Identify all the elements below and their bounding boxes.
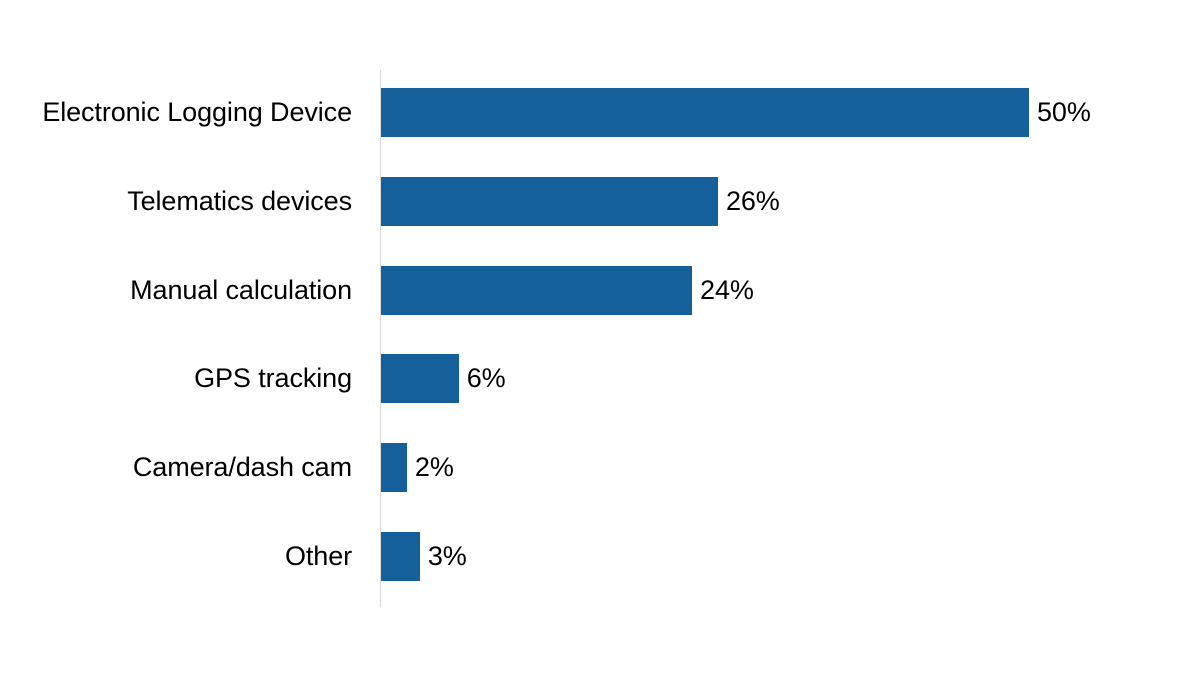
plot-area: Electronic Logging Device 50% Telematics… [0, 0, 1200, 675]
category-label: Electronic Logging Device [42, 88, 352, 137]
category-axis-line [380, 70, 381, 607]
bar-fill[interactable] [381, 443, 407, 492]
bar-fill[interactable] [381, 266, 692, 315]
category-label: GPS tracking [194, 354, 352, 403]
bar-fill[interactable] [381, 532, 420, 581]
bar-value-label: 6% [467, 354, 506, 403]
bar-value-label: 2% [415, 443, 454, 492]
bar-value-label: 50% [1037, 88, 1091, 137]
bar-row[interactable]: Other 3% [0, 532, 1200, 581]
category-label: Manual calculation [130, 266, 352, 315]
bar-fill[interactable] [381, 88, 1029, 137]
bar-fill[interactable] [381, 354, 459, 403]
bar-fill[interactable] [381, 177, 718, 226]
bar-value-label: 26% [726, 177, 780, 226]
bar-row[interactable]: GPS tracking 6% [0, 354, 1200, 403]
bar-value-label: 24% [700, 266, 754, 315]
category-label: Other [285, 532, 352, 581]
bar-value-label: 3% [428, 532, 467, 581]
category-label: Camera/dash cam [133, 443, 352, 492]
category-label: Telematics devices [127, 177, 352, 226]
bar-row[interactable]: Camera/dash cam 2% [0, 443, 1200, 492]
bar-row[interactable]: Telematics devices 26% [0, 177, 1200, 226]
bar-chart: Electronic Logging Device 50% Telematics… [0, 0, 1200, 675]
bar-row[interactable]: Manual calculation 24% [0, 266, 1200, 315]
bar-row[interactable]: Electronic Logging Device 50% [0, 88, 1200, 137]
